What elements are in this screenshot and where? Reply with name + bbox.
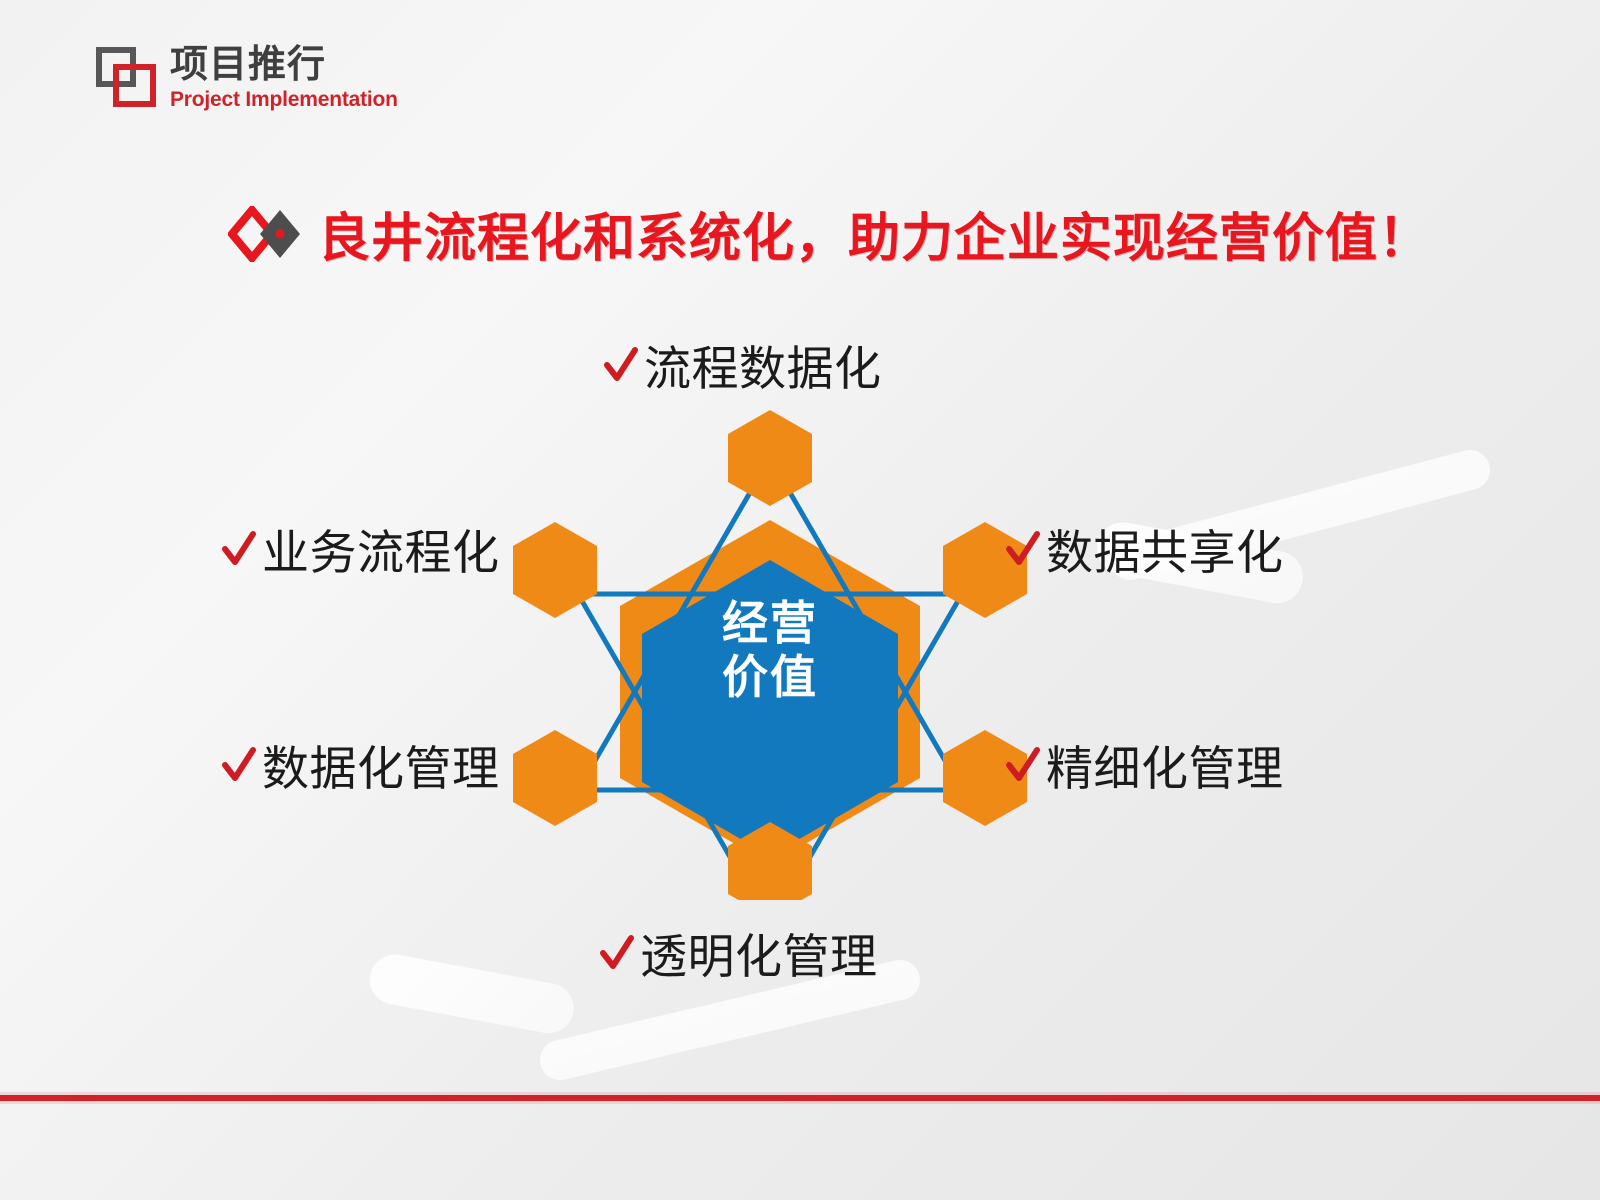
node-label-upper-right[interactable]: 数据共享化 [1006,514,1284,583]
node-label-bottom-text: 透明化管理 [640,918,878,987]
brand-logo: 项目推行 Project Implementation [96,46,398,110]
check-icon [600,933,634,973]
slide: 项目推行 Project Implementation 良井流程化和系统化，助力… [0,0,1600,1200]
node-label-bottom[interactable]: 透明化管理 [600,918,878,987]
check-icon [222,745,256,785]
logo-title-cn: 项目推行 [170,46,398,84]
node-label-upper-right-text: 数据共享化 [1046,514,1284,583]
diagram-svg [470,400,1070,900]
logo-title-en: Project Implementation [170,89,398,110]
check-icon [222,529,256,569]
node-label-upper-left[interactable]: 业务流程化 [222,514,500,583]
hexagon-star-diagram: 经营 价值 [470,400,1070,900]
node-label-lower-right[interactable]: 精细化管理 [1006,730,1284,799]
node-label-top[interactable]: 流程数据化 [604,330,882,399]
slide-title-row: 良井流程化和系统化，助力企业实现经营价值！ [228,196,1431,271]
node-label-lower-left-text: 数据化管理 [262,730,500,799]
node-hex-top[interactable] [728,410,812,506]
node-label-top-text: 流程数据化 [644,330,882,399]
bottom-divider [0,1095,1600,1101]
node-label-lower-left[interactable]: 数据化管理 [222,730,500,799]
logo-text: 项目推行 Project Implementation [170,46,398,110]
node-label-upper-left-text: 业务流程化 [262,514,500,583]
check-icon [1006,745,1040,785]
check-icon [1006,529,1040,569]
double-diamond-icon [228,206,304,262]
logo-mark-icon [96,47,158,109]
logo-square-red [113,64,156,107]
check-icon [604,345,638,385]
slide-title: 良井流程化和系统化，助力企业实现经营价值！ [318,196,1431,271]
node-label-lower-right-text: 精细化管理 [1046,730,1284,799]
node-hex-lower-left[interactable] [513,730,597,826]
